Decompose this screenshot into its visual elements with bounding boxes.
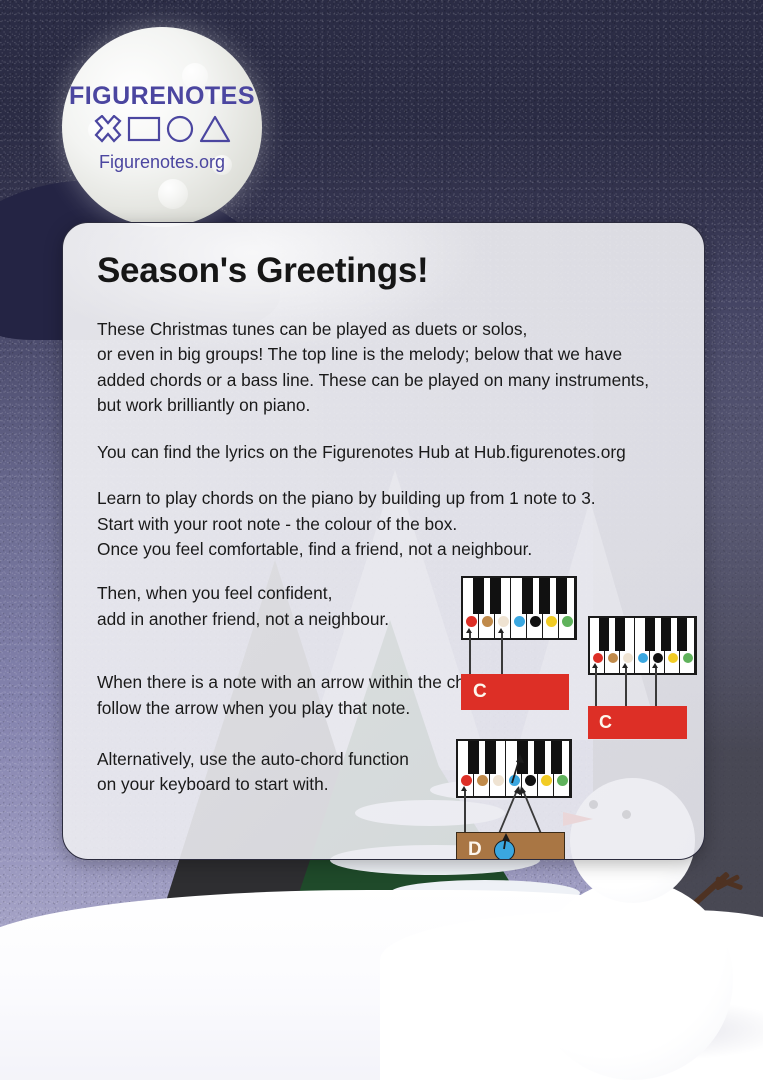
up-arrow-on-blue-note-icon — [506, 751, 528, 785]
note-dot-green — [562, 616, 573, 627]
chord-pointer-arrowhead — [622, 663, 628, 668]
page-title: Season's Greetings! — [97, 251, 670, 291]
black-key[interactable] — [490, 578, 501, 614]
note-dot-red — [466, 616, 477, 627]
black-key[interactable] — [599, 618, 609, 651]
auto-chord-paragraph: Alternatively, use the auto-chord functi… — [97, 747, 670, 798]
black-key[interactable] — [534, 741, 545, 774]
chord-box-d[interactable]: D — [456, 832, 565, 860]
snowman-body — [533, 880, 733, 1080]
black-key[interactable] — [539, 578, 550, 614]
arrow-note-paragraph: When there is a note with an arrow withi… — [97, 670, 670, 721]
black-key[interactable] — [551, 741, 562, 774]
figurenotes-logo[interactable]: FIGURENOTES Figurenotes.org — [62, 27, 262, 227]
note-dot-green — [557, 775, 568, 786]
note-dot-cream — [623, 653, 633, 663]
note-dot-red — [593, 653, 603, 663]
circle-shape-icon — [165, 115, 195, 148]
chord-label: C — [599, 712, 612, 733]
note-dot-yellow — [668, 653, 678, 663]
chord-box-c[interactable]: C — [461, 674, 569, 710]
up-arrow-icon — [498, 832, 512, 850]
note-dot-black — [530, 616, 541, 627]
note-dot-brown — [477, 775, 488, 786]
triangle-shape-icon — [199, 115, 231, 148]
black-key[interactable] — [677, 618, 687, 651]
square-shape-icon — [127, 115, 161, 148]
black-key[interactable] — [522, 578, 533, 614]
black-key[interactable] — [485, 741, 496, 774]
chord-pointer-arrowhead — [498, 628, 504, 633]
logo-url-text: Figurenotes.org — [99, 152, 225, 173]
lyrics-hub-paragraph: You can find the lyrics on the Figurenot… — [97, 440, 670, 465]
note-dot-blue — [638, 653, 648, 663]
chord-pointer-arrowhead — [466, 628, 472, 633]
note-circle-blue-with-arrow — [494, 840, 515, 861]
greeting-card-panel: Season's Greetings! These Christmas tune… — [62, 222, 705, 860]
black-key[interactable] — [468, 741, 479, 774]
note-dot-red — [461, 775, 472, 786]
confident-paragraph: Then, when you feel confident, add in an… — [97, 581, 670, 632]
logo-wordmark: FIGURENOTES — [69, 82, 255, 111]
note-dot-black — [653, 653, 663, 663]
note-dot-green — [683, 653, 693, 663]
note-dot-brown — [482, 616, 493, 627]
logo-shape-row — [93, 115, 231, 148]
chord-pointer-arrowhead — [652, 663, 658, 668]
black-key[interactable] — [661, 618, 671, 651]
chord-pointer-arrowhead — [461, 786, 467, 791]
greeting-card-page: FIGURENOTES Figurenotes.org Season's Gre… — [0, 0, 763, 1080]
note-dot-blue — [514, 616, 525, 627]
chord-pointer-arrowhead — [592, 663, 598, 668]
learn-chords-paragraph: Learn to play chords on the piano by bui… — [97, 486, 670, 562]
note-dot-brown — [608, 653, 618, 663]
logo-sparkle-4 — [158, 179, 188, 209]
black-key[interactable] — [645, 618, 655, 651]
note-dot-cream — [498, 616, 509, 627]
chord-label: D — [468, 839, 482, 860]
card-content: Season's Greetings! These Christmas tune… — [63, 223, 704, 847]
chord-box-c[interactable]: C — [588, 706, 687, 739]
intro-paragraph: These Christmas tunes can be played as d… — [97, 317, 670, 419]
black-key[interactable] — [473, 578, 484, 614]
note-dot-yellow — [546, 616, 557, 627]
black-key[interactable] — [556, 578, 567, 614]
note-dot-cream — [493, 775, 504, 786]
black-key[interactable] — [615, 618, 625, 651]
note-dot-yellow — [541, 775, 552, 786]
chord-label: C — [473, 681, 487, 703]
cross-shape-icon — [93, 115, 123, 148]
